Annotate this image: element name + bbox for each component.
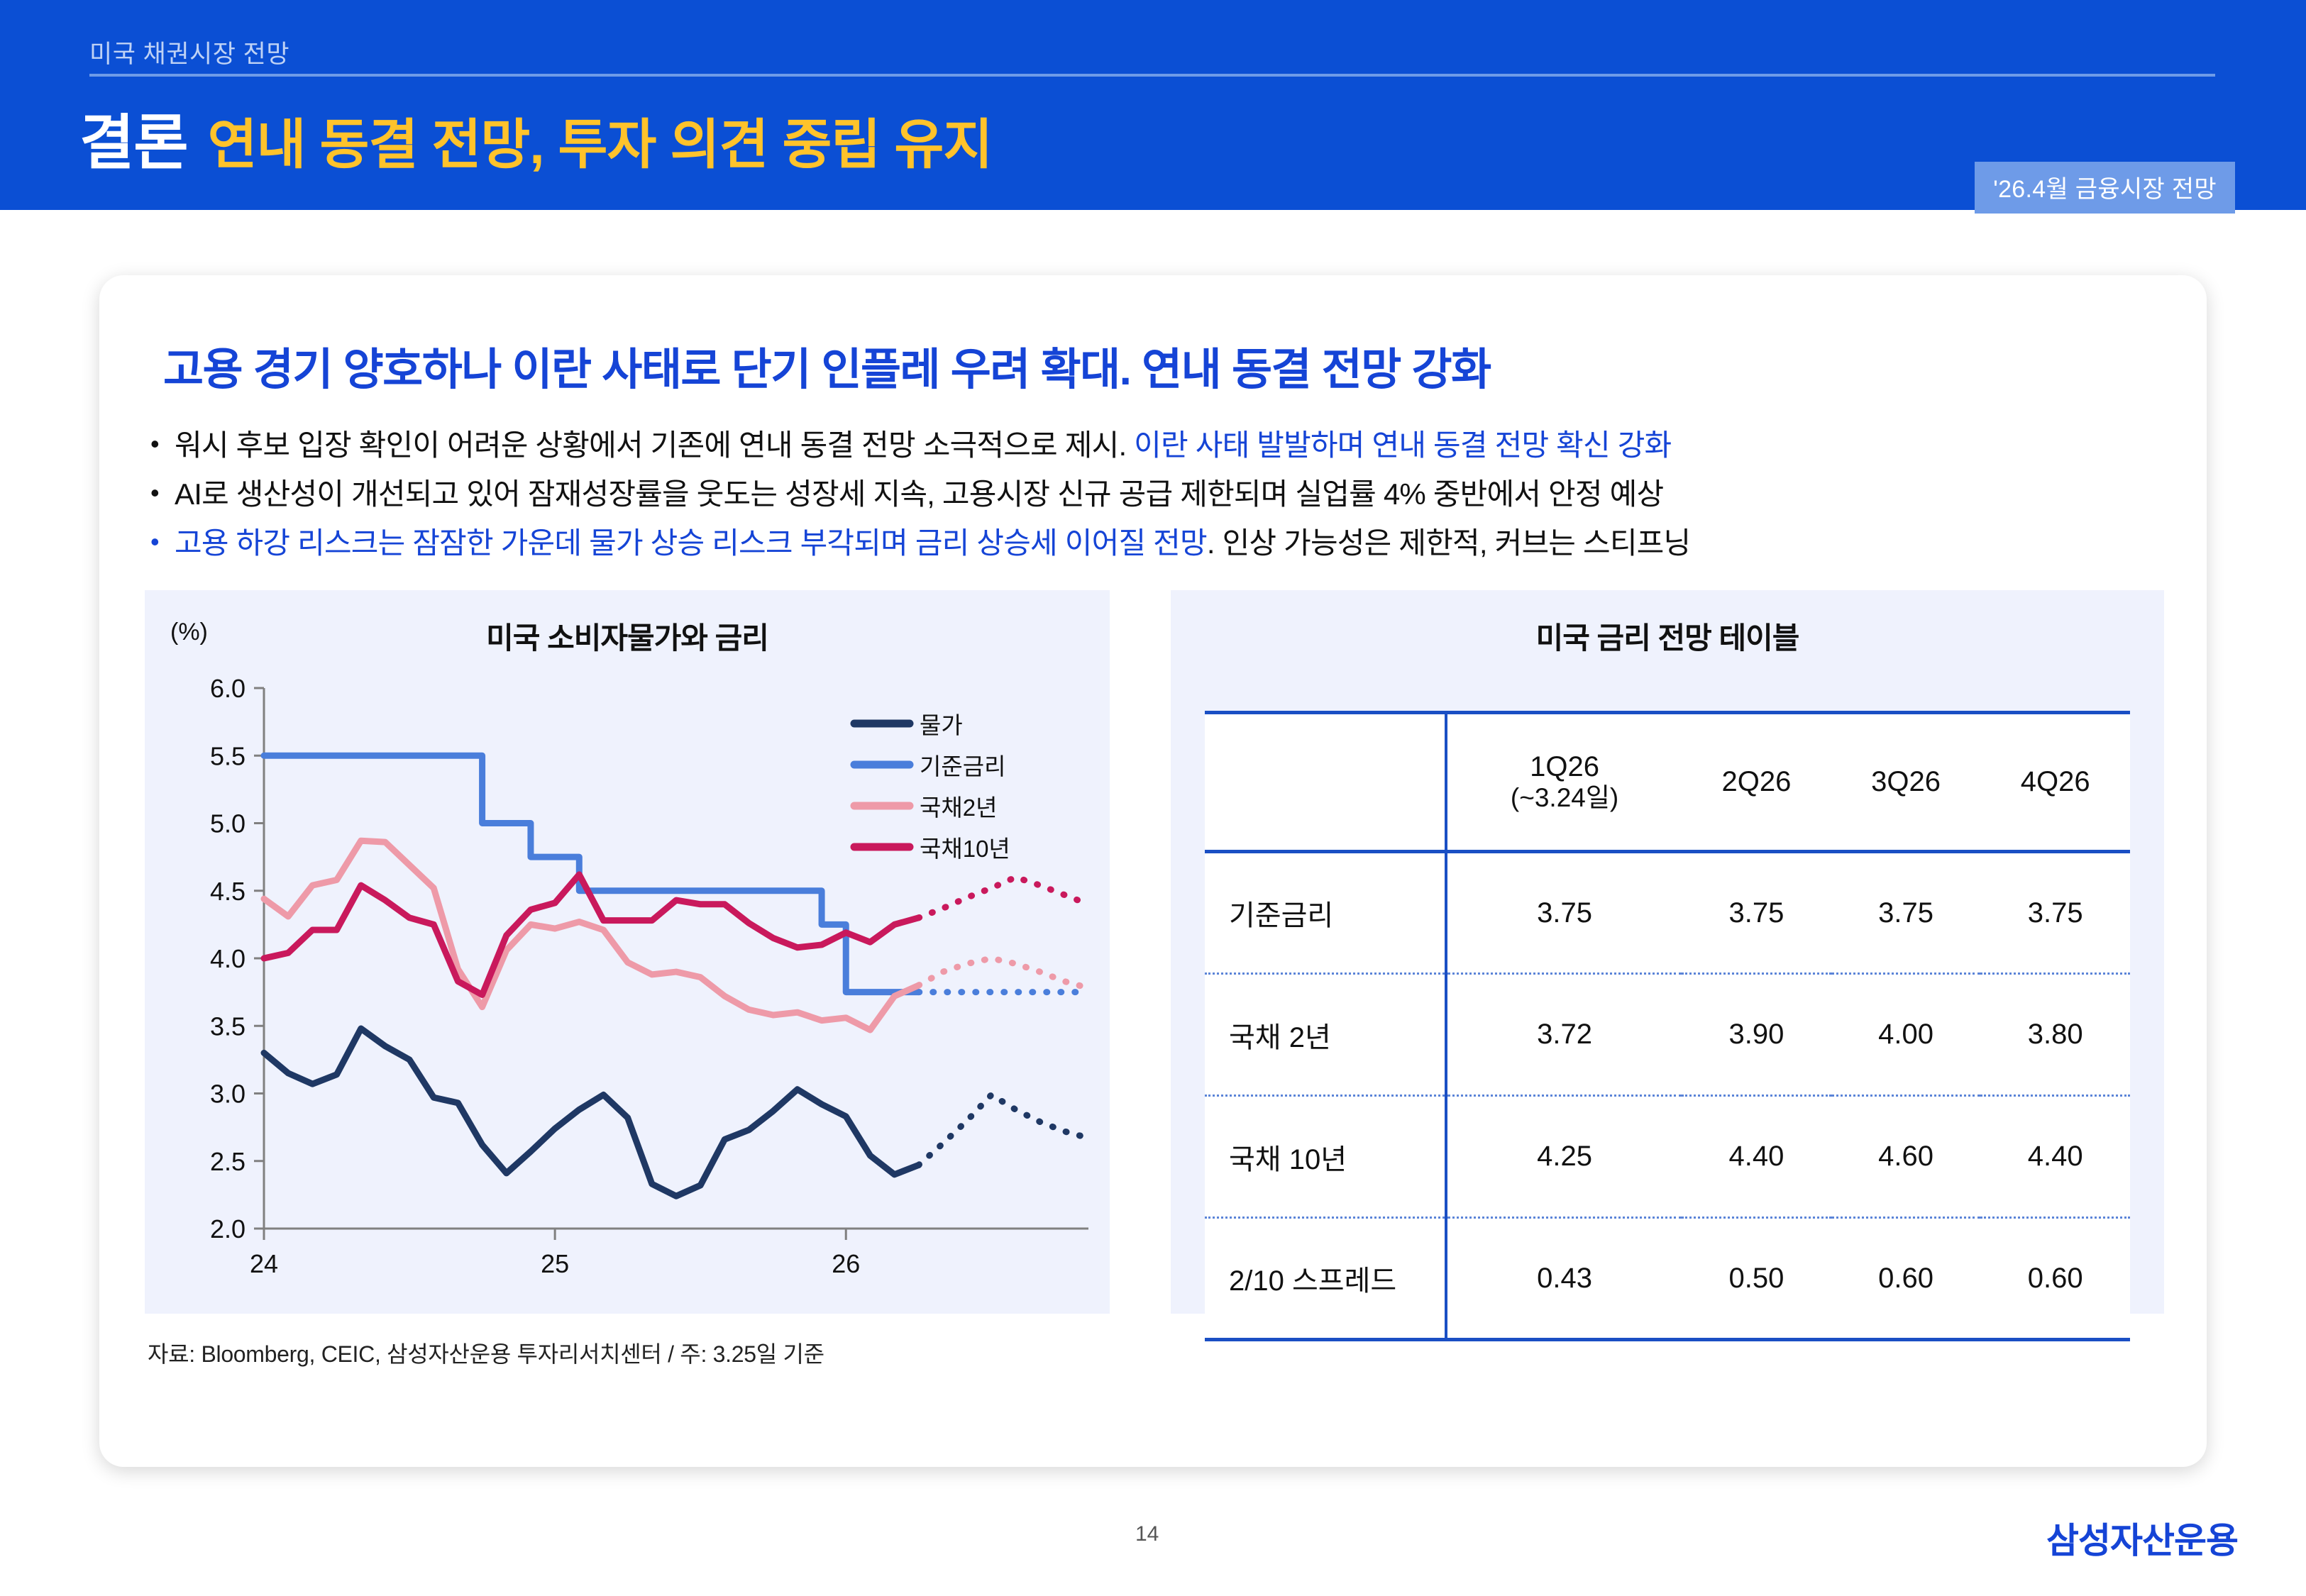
table-cell: 0.60 — [1831, 1218, 1981, 1340]
table-cell: 4.60 — [1831, 1096, 1981, 1218]
table-panel: 미국 금리 전망 테이블 1Q26 (~3.24일) 2Q26 3Q26 — [1171, 590, 2164, 1314]
table-cell: 3.75 — [1446, 852, 1682, 974]
svg-text:3.0: 3.0 — [210, 1080, 246, 1109]
column-header-1q26: 1Q26 (~3.24일) — [1446, 713, 1682, 852]
table-cell: 3.75 — [1682, 852, 1831, 974]
list-item: • AI로 생산성이 개선되고 있어 잠재성장률을 웃도는 성장세 지속, 고용… — [150, 475, 2180, 514]
table-header-row: 1Q26 (~3.24일) 2Q26 3Q26 4Q26 — [1205, 713, 2130, 852]
svg-text:4.0: 4.0 — [210, 944, 246, 973]
table-row: 국채 10년4.254.404.604.40 — [1205, 1096, 2130, 1218]
slide-header: 미국 채권시장 전망 결론 연내 동결 전망, 투자 의견 중립 유지 '26.… — [0, 0, 2306, 210]
company-logo: 삼성자산운용 — [2046, 1512, 2238, 1563]
table-head: 1Q26 (~3.24일) 2Q26 3Q26 4Q26 — [1205, 713, 2130, 852]
table-cell: 0.43 — [1446, 1218, 1682, 1340]
status-badge: '26.4월 금융시장 전망 — [1975, 162, 2235, 214]
bullet-text-black: . 인상 가능성은 제한적, 커브는 스티프닝 — [1207, 526, 1691, 560]
content-card: 고용 경기 양호하나 이란 사태로 단기 인플레 우려 확대. 연내 동결 전망… — [99, 275, 2207, 1467]
list-item: • 고용 하강 리스크는 잠잠한 가운데 물가 상승 리스크 부각되며 금리 상… — [150, 523, 2180, 563]
column-header-2q26: 2Q26 — [1682, 713, 1831, 852]
bullet-text-blue: 이란 사태 발발하며 연내 동결 전망 확신 강화 — [1126, 428, 1671, 462]
table-row: 2/10 스프레드0.430.500.600.60 — [1205, 1218, 2130, 1340]
svg-text:2.5: 2.5 — [210, 1147, 246, 1176]
rate-forecast-table: 1Q26 (~3.24일) 2Q26 3Q26 4Q26 기준금리3.753.7… — [1205, 711, 2130, 1341]
table-row-label: 국채 2년 — [1205, 974, 1446, 1096]
svg-text:6.0: 6.0 — [210, 674, 246, 703]
table-body: 기준금리3.753.753.753.75국채 2년3.723.904.003.8… — [1205, 852, 2130, 1340]
list-item: • 워시 후보 입장 확인이 어려운 상황에서 기존에 연내 동결 전망 소극적… — [150, 426, 2180, 465]
page-title: 결론 연내 동결 전망, 투자 의견 중립 유지 — [79, 95, 992, 181]
header-divider — [89, 74, 2215, 77]
bullet-text: 고용 하강 리스크는 잠잠한 가운데 물가 상승 리스크 부각되며 금리 상승세… — [175, 523, 1690, 563]
svg-text:5.5: 5.5 — [210, 741, 246, 770]
svg-text:25: 25 — [541, 1249, 569, 1278]
bullet-marker: • — [150, 426, 175, 462]
table-row-label: 2/10 스프레드 — [1205, 1218, 1446, 1340]
table-cell: 0.50 — [1682, 1218, 1831, 1340]
svg-text:26: 26 — [832, 1249, 860, 1278]
table-cell: 3.72 — [1446, 974, 1682, 1096]
table-cell: 3.90 — [1682, 974, 1831, 1096]
bullet-marker: • — [150, 475, 175, 511]
table-row-label: 국채 10년 — [1205, 1096, 1446, 1218]
svg-text:4.5: 4.5 — [210, 877, 246, 906]
column-header-line2: (~3.24일) — [1447, 783, 1682, 812]
table-cell: 3.80 — [1980, 974, 2130, 1096]
svg-text:5.0: 5.0 — [210, 809, 246, 838]
bullet-text: 워시 후보 입장 확인이 어려운 상황에서 기존에 연내 동결 전망 소극적으로… — [175, 426, 1671, 465]
column-header-4q26: 4Q26 — [1980, 713, 2130, 852]
page-title-main: 결론 — [79, 95, 188, 181]
svg-text:24: 24 — [250, 1249, 278, 1278]
svg-text:국채2년: 국채2년 — [920, 794, 997, 821]
svg-text:기준금리: 기준금리 — [920, 753, 1005, 780]
header-eyebrow: 미국 채권시장 전망 — [89, 34, 289, 70]
svg-text:2.0: 2.0 — [210, 1214, 246, 1243]
chart-panel: 미국 소비자물가와 금리 (%) 6.05.55.04.54.03.53.02.… — [145, 590, 1110, 1314]
table-cell: 3.75 — [1831, 852, 1981, 974]
table-cell: 0.60 — [1980, 1218, 2130, 1340]
svg-text:국채10년: 국채10년 — [920, 836, 1010, 862]
table-cell: 4.40 — [1980, 1096, 2130, 1218]
table-corner-cell — [1205, 713, 1446, 852]
table-cell: 4.40 — [1682, 1096, 1831, 1218]
table-cell: 4.25 — [1446, 1096, 1682, 1218]
source-note: 자료: Bloomberg, CEIC, 삼성자산운용 투자리서치센터 / 주:… — [148, 1336, 824, 1369]
table-cell: 3.75 — [1980, 852, 2130, 974]
table-row: 기준금리3.753.753.753.75 — [1205, 852, 2130, 974]
table-cell: 4.00 — [1831, 974, 1981, 1096]
bullet-text: AI로 생산성이 개선되고 있어 잠재성장률을 웃도는 성장세 지속, 고용시장… — [175, 475, 1663, 514]
bullet-marker: • — [150, 523, 175, 560]
page-number: 14 — [1135, 1522, 1159, 1546]
table-row: 국채 2년3.723.904.003.80 — [1205, 974, 2130, 1096]
column-header-3q26: 3Q26 — [1831, 713, 1981, 852]
bullet-text-blue: 고용 하강 리스크는 잠잠한 가운데 물가 상승 리스크 부각되며 금리 상승세… — [175, 526, 1207, 560]
svg-text:물가: 물가 — [920, 712, 963, 738]
column-header-line1: 1Q26 — [1447, 751, 1682, 783]
slide-root: 미국 채권시장 전망 결론 연내 동결 전망, 투자 의견 중립 유지 '26.… — [0, 0, 2306, 1596]
card-heading: 고용 경기 양호하나 이란 사태로 단기 인플레 우려 확대. 연내 동결 전망… — [163, 333, 1491, 397]
bullet-list: • 워시 후보 입장 확인이 어려운 상황에서 기존에 연내 동결 전망 소극적… — [150, 426, 2180, 572]
table-title: 미국 금리 전망 테이블 — [1171, 614, 2164, 658]
line-chart: 6.05.55.04.54.03.53.02.52.0242526물가기준금리국… — [145, 590, 1110, 1314]
bullet-text-black: 워시 후보 입장 확인이 어려운 상황에서 기존에 연내 동결 전망 소극적으로… — [175, 428, 1126, 462]
table-row-label: 기준금리 — [1205, 852, 1446, 974]
svg-text:3.5: 3.5 — [210, 1012, 246, 1041]
page-title-sub: 연내 동결 전망, 투자 의견 중립 유지 — [208, 101, 993, 179]
